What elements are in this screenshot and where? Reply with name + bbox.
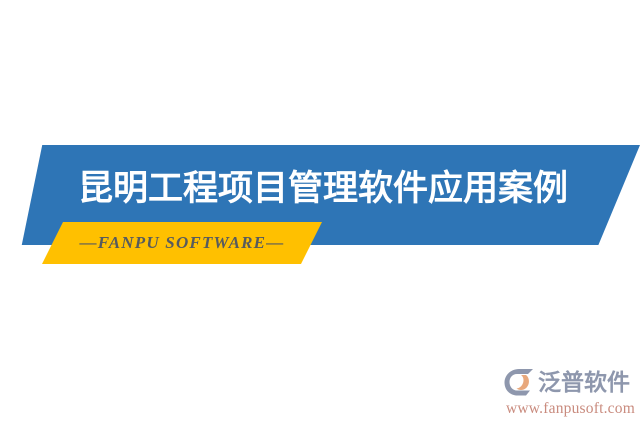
fanpu-logo-icon: [504, 368, 535, 397]
subtitle-banner-yellow: [42, 222, 322, 264]
brand-name: 泛普软件: [538, 371, 630, 394]
brand-logo-row: 泛普软件: [504, 366, 630, 398]
brand-website: www.fanpusoft.com: [506, 401, 635, 417]
slide-canvas: 昆明工程项目管理软件应用案例 —FANPU SOFTWARE— 泛普软件 www…: [0, 0, 640, 427]
brand-logo: 泛普软件 www.fanpusoft.com: [504, 366, 636, 418]
